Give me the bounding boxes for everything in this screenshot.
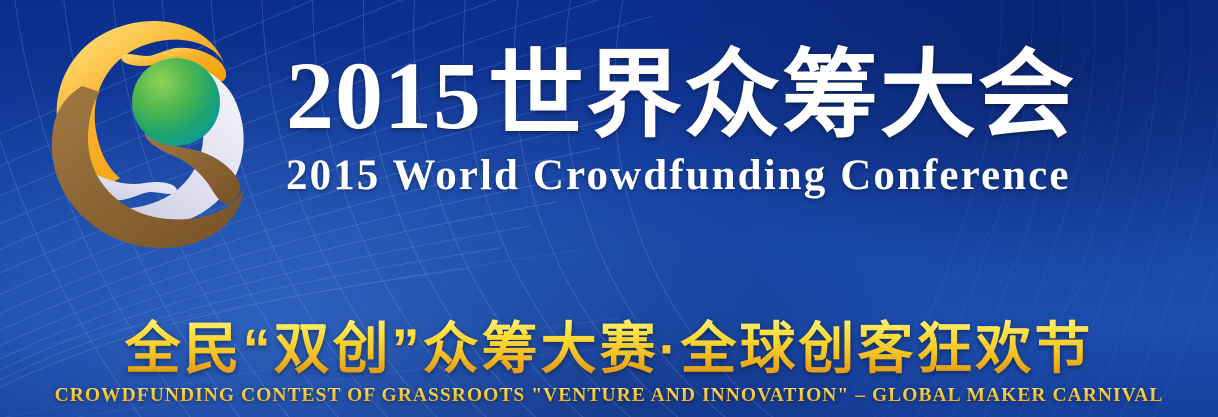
page-title-english: 2015 World Crowdfunding Conference <box>286 150 1206 202</box>
title-block: 2015世界众筹大会 2015 World Crowdfunding Confe… <box>286 44 1206 202</box>
page-title-year: 2015 <box>286 42 488 149</box>
slogan-chinese: 全民“双创”众筹大赛·全球创客狂欢节 <box>0 318 1218 380</box>
slogan-english: CROWDFUNDING CONTEST OF GRASSROOTS "VENT… <box>0 384 1218 408</box>
page-title-chinese-text: 世界众筹大会 <box>488 42 1076 149</box>
slogan-block: 全民“双创”众筹大赛·全球创客狂欢节 CROWDFUNDING CONTEST … <box>0 318 1218 408</box>
logo-green-globe <box>132 58 220 146</box>
page-title-chinese: 2015世界众筹大会 <box>286 44 1206 148</box>
conference-logo <box>24 12 276 266</box>
conference-banner: 2015世界众筹大会 2015 World Crowdfunding Confe… <box>0 0 1218 417</box>
